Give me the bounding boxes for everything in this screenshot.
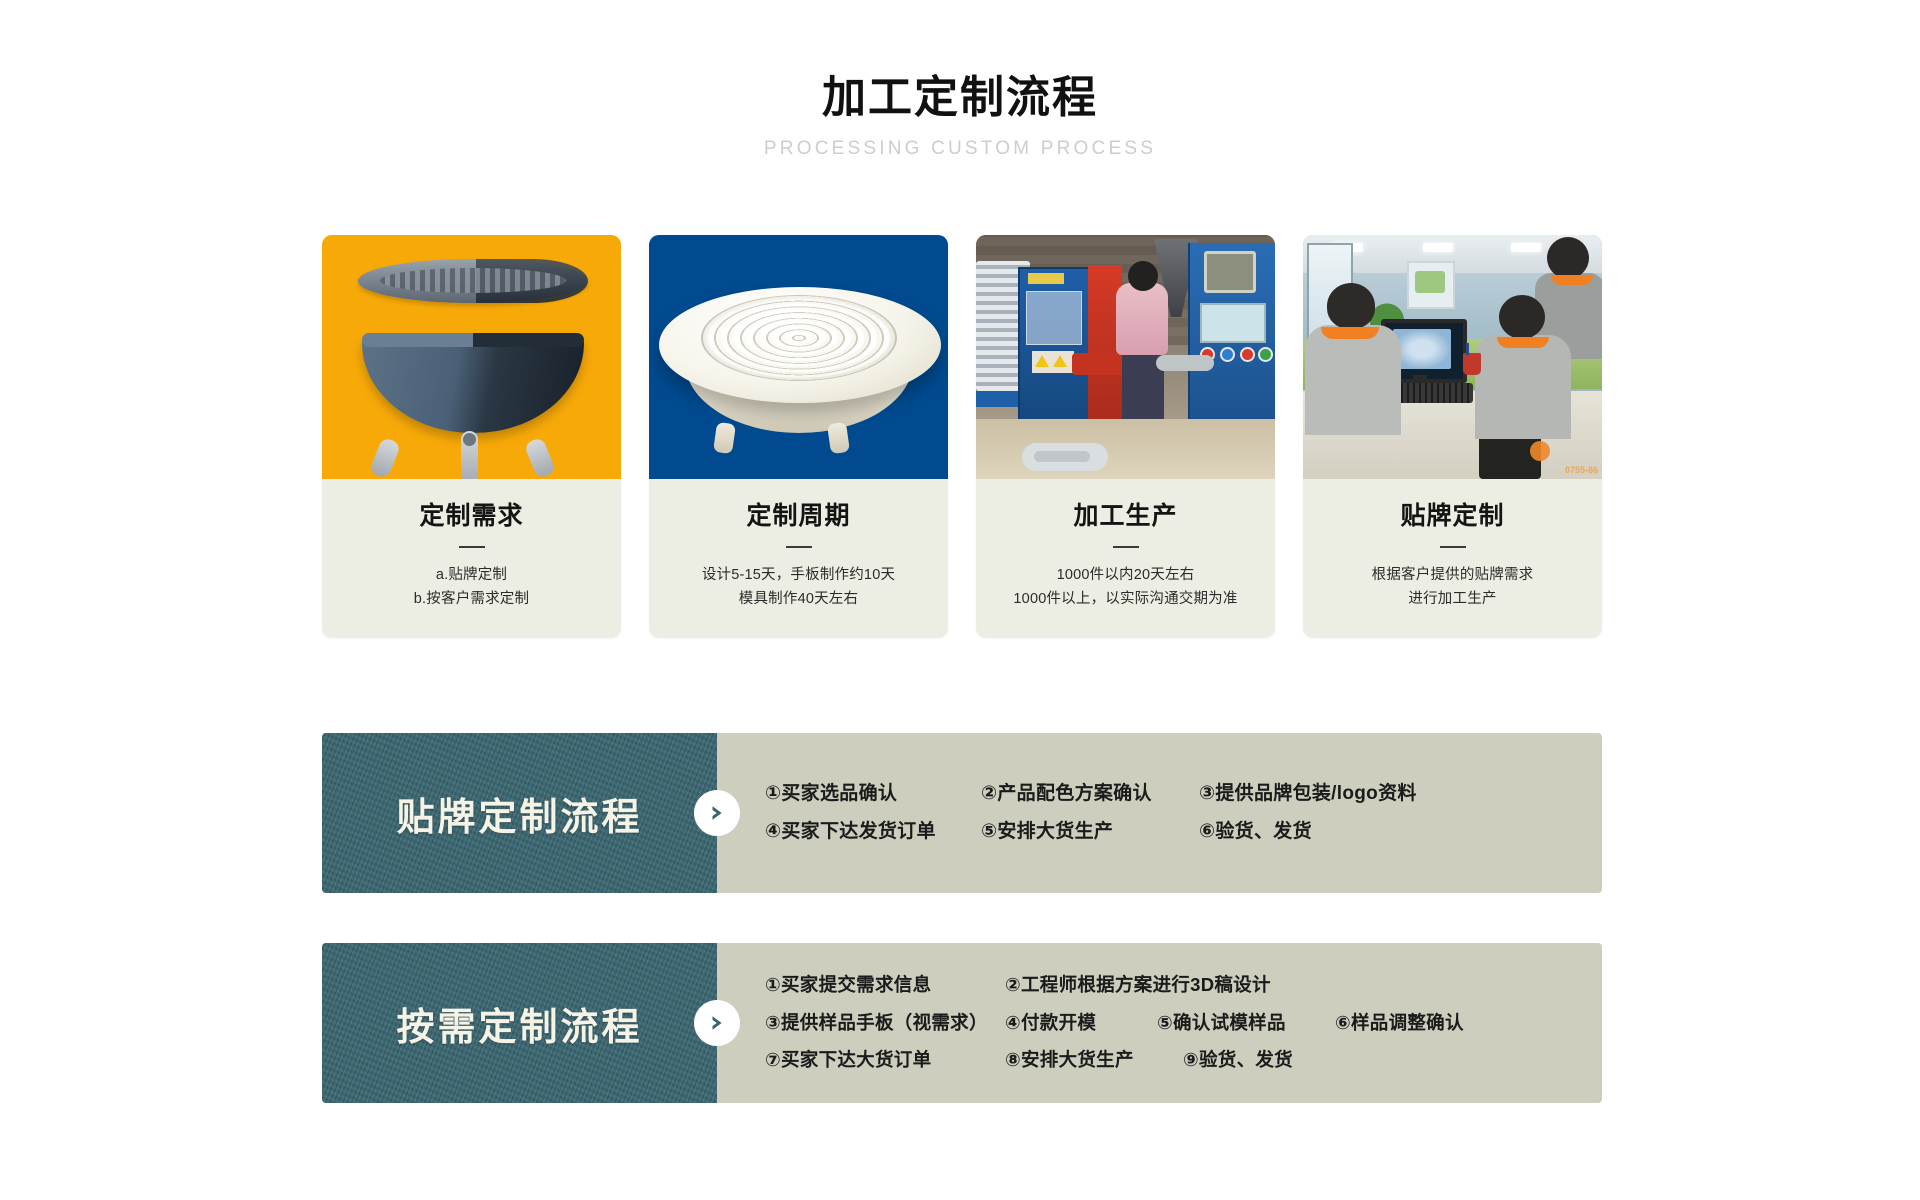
card-3-desc-line-1: 1000件以内20天左右 (990, 564, 1261, 588)
card-2-desc-line-2: 模具制作40天左右 (663, 588, 934, 612)
office-wall-poster (1407, 261, 1455, 309)
card-3-title: 加工生产 (990, 501, 1261, 531)
grill-leg-left-icon (369, 437, 402, 479)
worker-torso (1116, 283, 1168, 355)
factory-red-block (1072, 353, 1124, 375)
grill-leg-center-icon (461, 431, 478, 479)
ondemand-process-bar: 按需定制流程 ①买家提交需求信息 ②工程师根据方案进行3D稿设计 ③提供样品手板… (322, 943, 1602, 1103)
card-2-divider (786, 546, 812, 548)
bowl-maze-pattern (701, 295, 897, 381)
card-1-image-exploded-grill (322, 235, 621, 479)
worker-head (1128, 261, 1158, 291)
card-3-image-factory (976, 235, 1275, 479)
process-card-1[interactable]: 定制需求 a.贴牌定制 b.按客户需求定制 (322, 235, 621, 638)
ceiling-light-2 (1423, 243, 1453, 252)
grill-lid-icon (358, 259, 588, 303)
standing-engineer-head (1547, 237, 1589, 279)
factory-floor (976, 419, 1275, 479)
ondemand-process-label: 按需定制流程 (396, 996, 642, 1051)
ondemand-step-2: ②工程师根据方案进行3D稿设计 (1005, 975, 1271, 995)
oem-process-label: 贴牌定制流程 (396, 786, 642, 841)
process-page: 加工定制流程 PROCESSING CUSTOM PROCESS 定制需求 a.… (0, 0, 1920, 1200)
card-3-divider (1113, 546, 1139, 548)
oem-step-6: ⑥验货、发货 (1199, 822, 1312, 843)
factory-press-window (1026, 291, 1082, 345)
console-screen-lower (1200, 303, 1266, 343)
oem-process-label-panel: 贴牌定制流程 (322, 733, 717, 893)
ondemand-step-9: ⑨验货、发货 (1183, 1050, 1293, 1070)
card-3-desc-line-2: 1000件以上，以实际沟通交期为准 (990, 588, 1261, 612)
oem-process-steps: ①买家选品确认 ②产品配色方案确认 ③提供品牌包装/logo资料 ④买家下达发货… (717, 733, 1602, 893)
card-1-body: 定制需求 a.贴牌定制 b.按客户需求定制 (322, 479, 621, 638)
ondemand-process-steps: ①买家提交需求信息 ②工程师根据方案进行3D稿设计 ③提供样品手板（视需求） ④… (717, 943, 1602, 1103)
chevron-right-icon (694, 790, 740, 836)
oem-step-4: ④买家下达发货订单 (765, 822, 981, 843)
card-4-divider (1440, 546, 1466, 548)
card-2-desc-line-1: 设计5-15天，手板制作约10天 (663, 564, 934, 588)
pen-cup (1463, 353, 1481, 375)
factory-machine-label (1028, 273, 1064, 284)
molded-part (1022, 443, 1108, 471)
ondemand-step-4: ④付款开模 (1005, 1013, 1157, 1033)
ondemand-step-7: ⑦买家下达大货订单 (765, 1050, 1005, 1070)
card-2-image-maze-bowl (649, 235, 948, 479)
ondemand-step-3: ③提供样品手板（视需求） (765, 1013, 1005, 1033)
ondemand-process-row-1: ①买家提交需求信息 ②工程师根据方案进行3D稿设计 (765, 975, 1602, 995)
card-4-description: 根据客户提供的贴牌需求 进行加工生产 (1317, 564, 1588, 612)
oem-process-bar: 贴牌定制流程 ①买家选品确认 ②产品配色方案确认 ③提供品牌包装/logo资料 … (322, 733, 1602, 893)
grill-bowl-icon (362, 333, 584, 433)
card-4-body: 贴牌定制 根据客户提供的贴牌需求 进行加工生产 (1303, 479, 1602, 638)
office-keyboard (1397, 383, 1473, 403)
ondemand-step-6: ⑥样品调整确认 (1335, 1013, 1464, 1033)
seated-engineer-left-body (1305, 325, 1401, 435)
chevron-right-icon (694, 1000, 740, 1046)
card-4-desc-line-2: 进行加工生产 (1317, 588, 1588, 612)
oem-step-1: ①买家选品确认 (765, 784, 981, 805)
card-1-divider (459, 546, 485, 548)
card-4-desc-line-1: 根据客户提供的贴牌需求 (1317, 564, 1588, 588)
card-2-description: 设计5-15天，手板制作约10天 模具制作40天左右 (663, 564, 934, 612)
card-2-body: 定制周期 设计5-15天，手板制作约10天 模具制作40天左右 (649, 479, 948, 638)
photo-watermark: 0755-86 (1565, 465, 1598, 475)
page-subtitle: PROCESSING CUSTOM PROCESS (0, 138, 1920, 160)
ondemand-process-row-2: ③提供样品手板（视需求） ④付款开模 ⑤确认试模样品 ⑥样品调整确认 (765, 1013, 1602, 1033)
factory-pipe (1156, 355, 1214, 371)
ondemand-process-label-panel: 按需定制流程 (322, 943, 717, 1103)
seated-engineer-right-body (1475, 335, 1571, 439)
ceiling-light-3 (1511, 243, 1541, 252)
oem-process-row-1: ①买家选品确认 ②产品配色方案确认 ③提供品牌包装/logo资料 (765, 784, 1602, 805)
watermark-logo-icon (1530, 441, 1550, 461)
bowl-foot-right (827, 422, 850, 454)
standing-engineer-collar (1551, 275, 1593, 285)
card-1-desc-line-1: a.贴牌定制 (336, 564, 607, 588)
oem-step-3: ③提供品牌包装/logo资料 (1199, 784, 1417, 805)
seated-engineer-right-head (1499, 295, 1545, 339)
ondemand-step-8: ⑧安排大货生产 (1005, 1050, 1183, 1070)
card-1-title: 定制需求 (336, 501, 607, 531)
ondemand-step-5: ⑤确认试模样品 (1157, 1013, 1335, 1033)
seated-engineer-right-collar (1497, 337, 1549, 348)
oem-process-row-2: ④买家下达发货订单 ⑤安排大货生产 ⑥验货、发货 (765, 822, 1602, 843)
page-header: 加工定制流程 PROCESSING CUSTOM PROCESS (0, 74, 1920, 160)
card-4-image-office: 0755-86 (1303, 235, 1602, 479)
card-3-body: 加工生产 1000件以内20天左右 1000件以上，以实际沟通交期为准 (976, 479, 1275, 638)
seated-engineer-left-collar (1321, 327, 1379, 339)
seated-engineer-left-head (1327, 283, 1375, 329)
card-2-title: 定制周期 (663, 501, 934, 531)
card-1-description: a.贴牌定制 b.按客户需求定制 (336, 564, 607, 612)
warning-sign-icon (1032, 351, 1074, 373)
card-3-description: 1000件以内20天左右 1000件以上，以实际沟通交期为准 (990, 564, 1261, 612)
console-screen-upper (1204, 251, 1256, 293)
process-card-2[interactable]: 定制周期 设计5-15天，手板制作约10天 模具制作40天左右 (649, 235, 948, 638)
ondemand-process-row-3: ⑦买家下达大货订单 ⑧安排大货生产 ⑨验货、发货 (765, 1050, 1602, 1070)
card-4-title: 贴牌定制 (1317, 501, 1588, 531)
grill-leg-right-icon (524, 437, 557, 479)
process-card-row: 定制需求 a.贴牌定制 b.按客户需求定制 定制周期 设 (322, 235, 1602, 638)
bowl-foot-left (713, 422, 736, 454)
ondemand-step-1: ①买家提交需求信息 (765, 975, 1005, 995)
oem-step-5: ⑤安排大货生产 (981, 822, 1199, 843)
card-1-desc-line-2: b.按客户需求定制 (336, 588, 607, 612)
process-card-4[interactable]: 0755-86 贴牌定制 根据客户提供的贴牌需求 进行加工生产 (1303, 235, 1602, 638)
process-card-3[interactable]: 加工生产 1000件以内20天左右 1000件以上，以实际沟通交期为准 (976, 235, 1275, 638)
oem-step-2: ②产品配色方案确认 (981, 784, 1199, 805)
page-title: 加工定制流程 (0, 74, 1920, 122)
